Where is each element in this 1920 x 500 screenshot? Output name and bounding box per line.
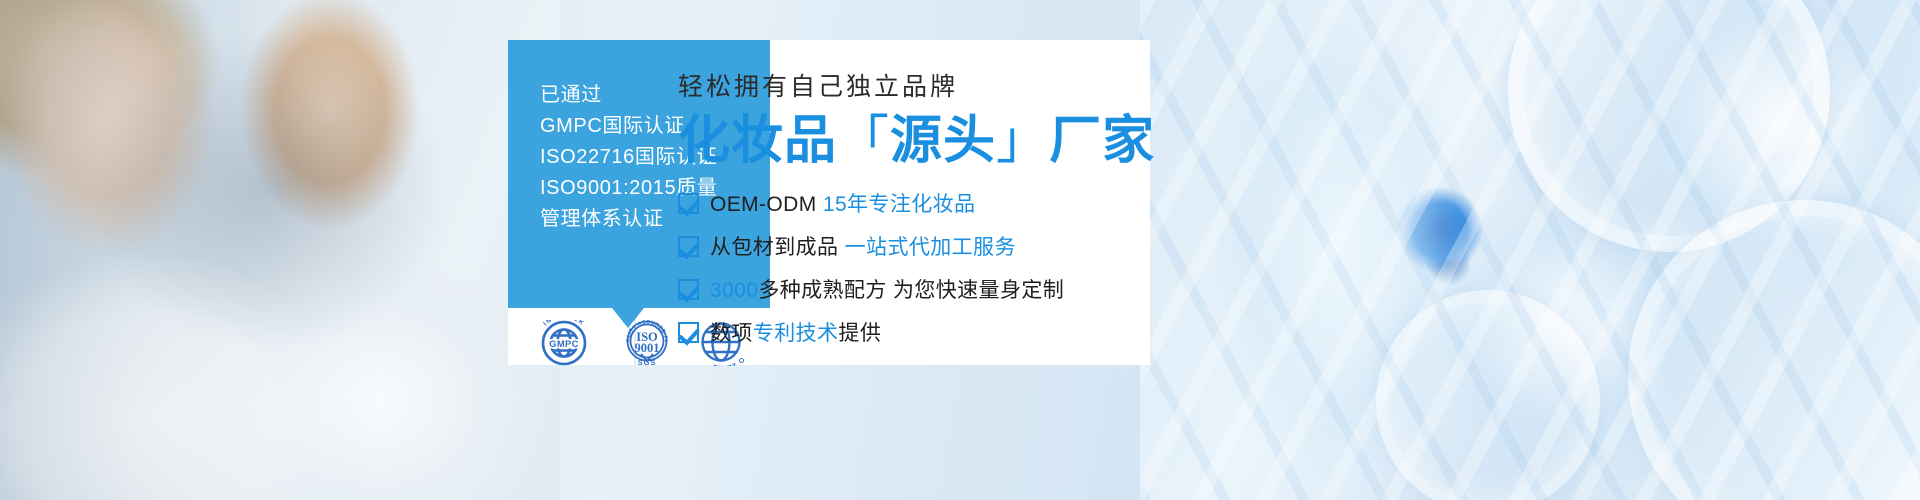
feature-segment-1: 一站式代加工服务 — [845, 236, 1016, 259]
feature-segment-1: 15年专注化妆品 — [823, 193, 976, 216]
checkbox-checked-icon — [678, 322, 699, 343]
feature-item-label: 数项专利技术提供 — [710, 317, 881, 347]
headline-part-2: 源头 — [890, 112, 996, 170]
feature-segment-1: 多种成熟配方 为您快速量身定制 — [758, 279, 1064, 302]
feature-item: 3000多种成熟配方 为您快速量身定制 — [678, 274, 1148, 304]
headline: 化妆品「源头」厂家 — [678, 112, 1148, 170]
feature-item: 数项专利技术提供 — [678, 317, 1148, 347]
feature-segment-0: 从包材到成品 — [710, 236, 845, 259]
iso9001-sgs-logo: QUALITY ASSURED FIRM ISO 9001 SGS — [616, 320, 678, 366]
headline-part-3: 」 — [996, 112, 1049, 170]
feature-item: OEM-ODM 15年专注化妆品 — [678, 188, 1148, 218]
feature-list: OEM-ODM 15年专注化妆品从包材到成品 一站式代加工服务3000多种成熟配… — [678, 188, 1148, 347]
feature-item-label: OEM-ODM 15年专注化妆品 — [710, 188, 975, 218]
feature-segment-1: 专利技术 — [753, 322, 839, 345]
headline-part-4: 厂家 — [1049, 112, 1155, 170]
feature-segment-2: 提供 — [838, 322, 881, 345]
main-copy: 轻松拥有自己独立品牌 化妆品「源头」厂家 OEM-ODM 15年专注化妆品从包材… — [678, 72, 1148, 360]
checkbox-checked-icon — [678, 193, 699, 214]
feature-segment-0: OEM-ODM — [710, 193, 823, 216]
promo-banner: 已通过 GMPC国际认证 ISO22716国际认证 ISO9001:2015质量… — [0, 0, 1920, 500]
sgs-text: SGS — [638, 358, 657, 366]
feature-item: 从包材到成品 一站式代加工服务 — [678, 231, 1148, 261]
headline-part-1: 「 — [837, 112, 890, 170]
checkbox-checked-icon — [678, 236, 699, 257]
9001-text: 9001 — [635, 341, 660, 355]
checkbox-checked-icon — [678, 279, 699, 300]
headline-part-0: 化妆品 — [678, 112, 837, 170]
feature-segment-0: 3000 — [710, 279, 758, 302]
intertek-gmpc-logo: GMPC INTERTEK — [526, 320, 602, 366]
subheadline: 轻松拥有自己独立品牌 — [678, 72, 1148, 102]
gmpc-logo-text: GMPC — [549, 338, 579, 349]
feature-segment-0: 数项 — [710, 322, 753, 345]
feature-item-label: 3000多种成熟配方 为您快速量身定制 — [710, 274, 1064, 304]
feature-item-label: 从包材到成品 一站式代加工服务 — [710, 231, 1016, 261]
